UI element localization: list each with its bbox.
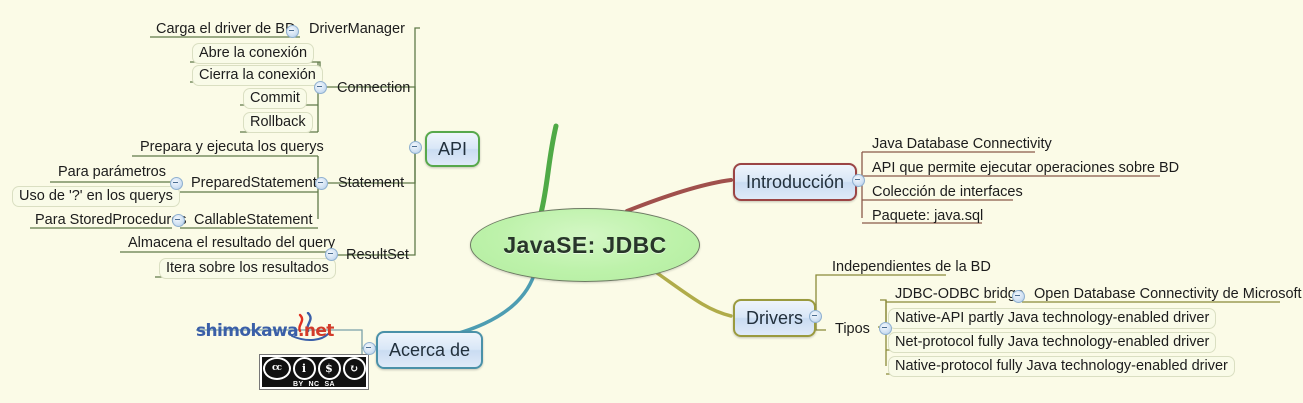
node-acerca-de-label: Acerca de — [389, 340, 470, 361]
node-connection[interactable]: Connection — [333, 79, 414, 98]
node-statement[interactable]: Statement — [334, 174, 408, 193]
node-drivermanager[interactable]: DriverManager — [305, 20, 409, 39]
cc-term-nc: NC — [309, 381, 320, 388]
shimokawa-logo[interactable]: shimokawa.net — [196, 312, 344, 345]
cc-by-icon: i — [293, 357, 316, 380]
cc-badge-row: cc i $ ↻ — [263, 357, 366, 380]
logo-text: shimokawa.net — [196, 321, 334, 341]
leaf-almacena-resultado[interactable]: Almacena el resultado del query — [124, 234, 339, 253]
collapse-toggle-jdbc-odbc-icon[interactable] — [1012, 290, 1025, 303]
node-acerca-de[interactable]: Acerca de — [376, 331, 483, 369]
leaf-para-parametros[interactable]: Para parámetros — [54, 163, 170, 182]
mindmap-canvas: JavaSE: JDBC API DriverManager Carga el … — [0, 0, 1303, 403]
leaf-api-operaciones-bd[interactable]: API que permite ejecutar operaciones sob… — [868, 159, 1183, 178]
leaf-cierra-conexion[interactable]: Cierra la conexión — [192, 65, 323, 86]
node-callablestatement[interactable]: CallableStatement — [190, 211, 317, 230]
node-resultset[interactable]: ResultSet — [342, 246, 413, 265]
collapse-toggle-callablestatement-icon[interactable] — [172, 214, 185, 227]
cc-mark-icon: cc — [263, 357, 291, 380]
leaf-java-database-connectivity[interactable]: Java Database Connectivity — [868, 135, 1056, 154]
leaf-independientes-bd[interactable]: Independientes de la BD — [828, 258, 995, 277]
leaf-coleccion-interfaces[interactable]: Colección de interfaces — [868, 183, 1027, 202]
leaf-native-api-driver[interactable]: Native-API partly Java technology-enable… — [888, 308, 1216, 329]
collapse-toggle-resultset-icon[interactable] — [325, 248, 338, 261]
collapse-toggle-api-icon[interactable] — [409, 141, 422, 154]
node-drivers[interactable]: Drivers — [733, 299, 816, 337]
node-introduccion[interactable]: Introducción — [733, 163, 857, 201]
leaf-para-storedprocedures[interactable]: Para StoredProcedures — [31, 211, 191, 230]
leaf-open-database-connectivity[interactable]: Open Database Connectivity de Microsoft — [1030, 285, 1303, 304]
creative-commons-license-badge[interactable]: cc i $ ↻ BY NC SA — [260, 355, 368, 389]
node-jdbc-odbc-bridge[interactable]: JDBC-ODBC bridge — [891, 285, 1028, 304]
cc-term-sa: SA — [324, 381, 335, 388]
cc-term-by: BY — [293, 381, 304, 388]
collapse-toggle-introduccion-icon[interactable] — [852, 174, 865, 187]
logo-domain: .net — [298, 321, 334, 341]
leaf-prepara-ejecuta-querys[interactable]: Prepara y ejecuta los querys — [136, 138, 328, 157]
cc-nc-icon: $ — [318, 357, 341, 380]
node-api-label: API — [438, 139, 467, 160]
leaf-paquete-javasql[interactable]: Paquete: java.sql — [868, 207, 987, 226]
central-node-label: JavaSE: JDBC — [503, 232, 666, 259]
collapse-toggle-connection-icon[interactable] — [314, 81, 327, 94]
node-api[interactable]: API — [425, 131, 480, 167]
leaf-itera-resultados[interactable]: Itera sobre los resultados — [159, 258, 336, 279]
central-node[interactable]: JavaSE: JDBC — [470, 208, 700, 282]
leaf-carga-driver[interactable]: Carga el driver de BD — [152, 20, 299, 39]
node-introduccion-label: Introducción — [746, 172, 844, 193]
collapse-toggle-statement-icon[interactable] — [315, 177, 328, 190]
cc-sa-icon: ↻ — [343, 357, 366, 380]
collapse-toggle-drivermanager-icon[interactable] — [286, 25, 299, 38]
leaf-uso-interrogacion[interactable]: Uso de '?' en los querys — [12, 186, 180, 207]
leaf-net-protocol-driver[interactable]: Net-protocol fully Java technology-enabl… — [888, 332, 1216, 353]
leaf-native-protocol-driver[interactable]: Native-protocol fully Java technology-en… — [888, 356, 1235, 377]
leaf-abre-conexion[interactable]: Abre la conexión — [192, 43, 314, 64]
collapse-toggle-drivers-icon[interactable] — [809, 310, 822, 323]
node-preparedstatement[interactable]: PreparedStatement — [187, 174, 321, 193]
collapse-toggle-acerca-icon[interactable] — [363, 342, 376, 355]
collapse-toggle-tipos-icon[interactable] — [879, 322, 892, 335]
logo-name: shimokawa — [196, 321, 298, 341]
collapse-toggle-preparedstatement-icon[interactable] — [170, 177, 183, 190]
leaf-commit[interactable]: Commit — [243, 88, 307, 109]
node-tipos[interactable]: Tipos — [831, 320, 874, 339]
cc-term-labels: BY NC SA — [293, 381, 335, 388]
node-drivers-label: Drivers — [746, 308, 803, 329]
leaf-rollback[interactable]: Rollback — [243, 112, 313, 133]
